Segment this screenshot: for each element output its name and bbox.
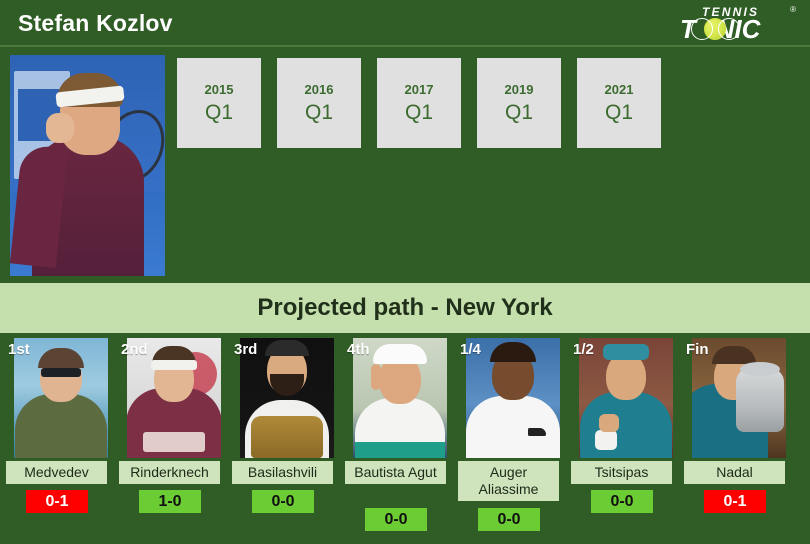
round-label: 1/2 — [573, 341, 594, 358]
page-title: Stefan Kozlov — [18, 10, 173, 37]
opponent-name: Rinderknech — [119, 461, 220, 484]
year-label: 2019 — [505, 82, 534, 97]
round-label: Fin — [686, 341, 709, 358]
opponent-name: Basilashvili — [232, 461, 333, 484]
head-to-head-record: 0-0 — [365, 508, 427, 531]
round-label: 2nd — [121, 341, 148, 358]
opponent-name: Medvedev — [6, 461, 107, 484]
tennis-tonic-logo[interactable]: TENNIS ® TONIC — [676, 3, 798, 45]
opponent-name: Nadal — [684, 461, 785, 484]
registered-mark-icon: ® — [790, 5, 796, 14]
round-label: 1/4 — [460, 341, 481, 358]
match-card-quarterfinal[interactable]: 1/4 Auger Aliassime 0-0 — [452, 337, 565, 544]
year-label: 2021 — [605, 82, 634, 97]
player-overview-section: 2015 Q1 2016 Q1 2017 Q1 2019 Q1 2021 Q1 — [0, 49, 810, 282]
year-label: 2016 — [305, 82, 334, 97]
year-card[interactable]: 2015 Q1 — [177, 58, 261, 148]
opponent-name: Bautista Agut — [345, 461, 446, 484]
head-to-head-record: 0-0 — [252, 490, 314, 513]
year-history-list: 2015 Q1 2016 Q1 2017 Q1 2019 Q1 2021 Q1 — [177, 58, 661, 148]
match-card-semifinal[interactable]: 1/2 Tsitsipas 0-0 — [565, 337, 678, 544]
year-card[interactable]: 2021 Q1 — [577, 58, 661, 148]
year-card[interactable]: 2016 Q1 — [277, 58, 361, 148]
head-to-head-record: 1-0 — [139, 490, 201, 513]
match-card-1st[interactable]: 1st Medvedev 0-1 — [0, 337, 113, 544]
match-card-4th[interactable]: 4th Bautista Agut 0-0 — [339, 337, 452, 544]
head-to-head-record: 0-0 — [478, 508, 540, 531]
year-card[interactable]: 2019 Q1 — [477, 58, 561, 148]
match-card-2nd[interactable]: 2nd Rinderknech 1-0 — [113, 337, 226, 544]
year-round-label: Q1 — [405, 101, 433, 125]
match-card-3rd[interactable]: 3rd Basilashvili 0-0 — [226, 337, 339, 544]
opponent-name: Tsitsipas — [571, 461, 672, 484]
projected-path-list: 1st Medvedev 0-1 2nd Rinderknech 1-0 3rd — [0, 337, 810, 544]
year-round-label: Q1 — [505, 101, 533, 125]
year-round-label: Q1 — [305, 101, 333, 125]
head-to-head-record: 0-1 — [704, 490, 766, 513]
projected-path-banner: Projected path - New York — [0, 283, 810, 333]
head-to-head-record: 0-0 — [591, 490, 653, 513]
photo-player-hand — [46, 113, 74, 143]
year-round-label: Q1 — [205, 101, 233, 125]
year-label: 2015 — [205, 82, 234, 97]
player-photo — [10, 55, 165, 276]
year-label: 2017 — [405, 82, 434, 97]
round-label: 1st — [8, 341, 30, 358]
projected-path-title: Projected path - New York — [257, 294, 552, 322]
round-label: 4th — [347, 341, 370, 358]
header-bar: Stefan Kozlov TENNIS ® TONIC — [0, 0, 810, 47]
tennis-ball-icon — [704, 18, 726, 40]
opponent-name: Auger Aliassime — [458, 461, 559, 501]
head-to-head-record: 0-1 — [26, 490, 88, 513]
match-card-final[interactable]: Fin Nadal 0-1 — [678, 337, 791, 544]
year-card[interactable]: 2017 Q1 — [377, 58, 461, 148]
round-label: 3rd — [234, 341, 257, 358]
year-round-label: Q1 — [605, 101, 633, 125]
